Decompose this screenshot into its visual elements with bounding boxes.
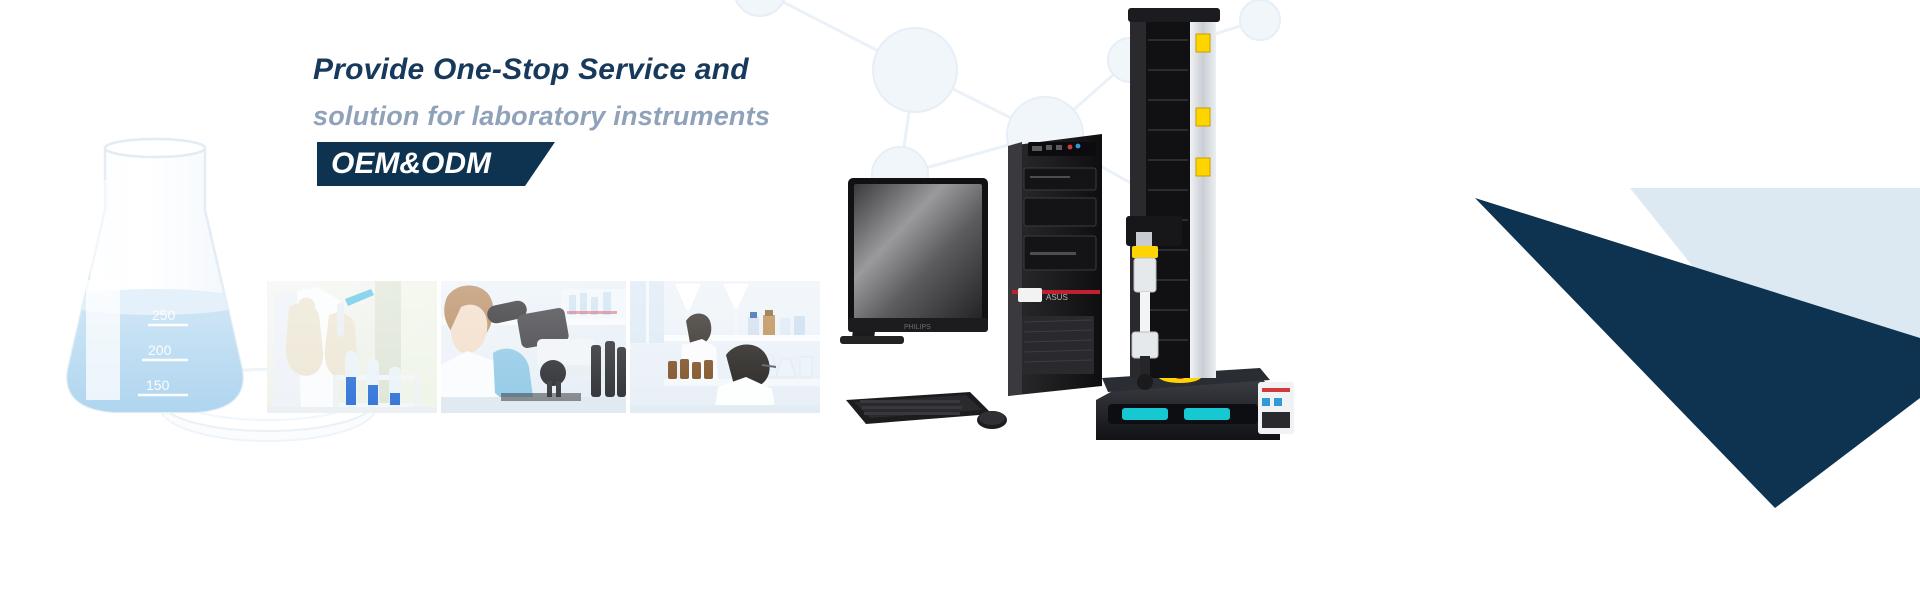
photo-laboratory-workers-bench <box>630 281 820 413</box>
svg-text:PHILIPS: PHILIPS <box>904 324 931 331</box>
keyboard <box>846 392 992 424</box>
photo-strip <box>267 281 820 413</box>
badge-label: OEM&ODM <box>317 142 509 186</box>
mouse <box>977 411 1007 429</box>
promo-banner: 250 200 150 100 mL Provide One-Stop Serv… <box>0 0 1920 597</box>
svg-text:mL: mL <box>92 283 113 300</box>
svg-text:150: 150 <box>146 377 170 393</box>
universal-tensile-testing-machine <box>1096 8 1294 440</box>
headline-block: Provide One-Stop Service and solution fo… <box>313 55 1013 186</box>
headline-line-1: Provide One-Stop Service and <box>313 55 1013 85</box>
headline-line-2: solution for laboratory instruments <box>313 103 1013 130</box>
svg-text:ASUS: ASUS <box>1046 293 1068 302</box>
warning-icon <box>1196 34 1210 176</box>
photo-microscope-researcher <box>441 281 626 413</box>
oem-odm-badge: OEM&ODM <box>317 142 509 186</box>
svg-text:200: 200 <box>148 342 172 358</box>
svg-text:250: 250 <box>152 307 176 323</box>
svg-text:100: 100 <box>148 412 172 428</box>
desktop-computer-tower: ASUS <box>1008 134 1102 396</box>
lcd-monitor: PHILIPS <box>840 178 988 344</box>
photo-pipetting-test-tubes <box>267 281 437 413</box>
emergency-stop-button <box>1158 360 1202 383</box>
